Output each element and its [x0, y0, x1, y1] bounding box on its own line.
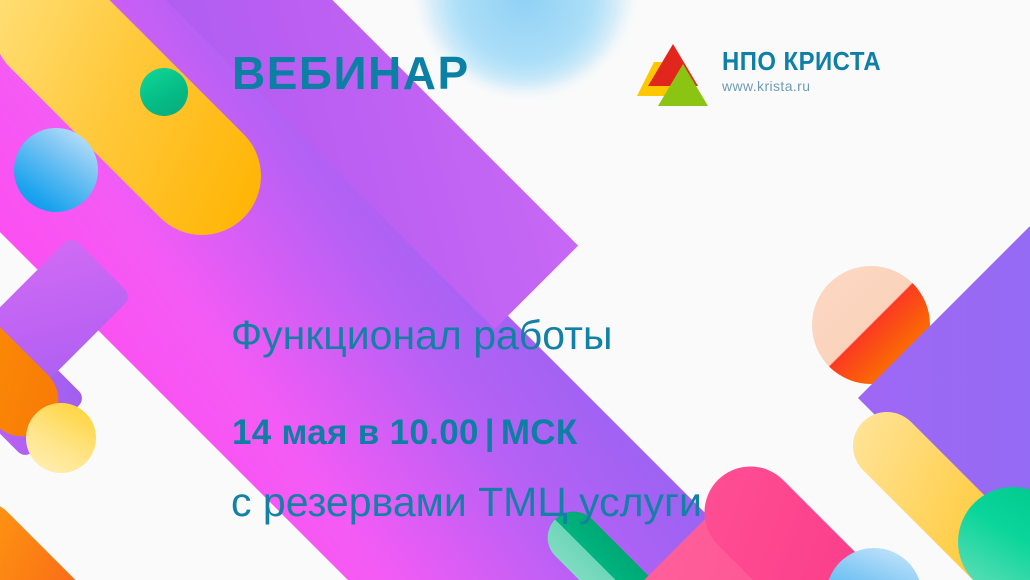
webinar-title-line-1: Функционал работы [231, 308, 702, 364]
krista-logo-text: НПО КРИСТА www.krista.ru [722, 48, 895, 94]
krista-logo-name: НПО КРИСТА [722, 48, 881, 75]
webinar-date: 14 мая в 10.00 [232, 413, 479, 452]
webinar-datetime: 14 мая в 10.00|МСК [232, 413, 578, 453]
banner-content: ВЕБИНАР Функционал работы с резервами ТМ… [0, 0, 1030, 580]
webinar-kicker-label: ВЕБИНАР [232, 50, 470, 96]
webinar-announcement-banner: ВЕБИНАР Функционал работы с резервами ТМ… [0, 0, 1030, 580]
krista-logo: НПО КРИСТА www.krista.ru [636, 42, 868, 114]
webinar-title-line-2: с резервами ТМЦ услуги [231, 475, 702, 531]
webinar-timezone: МСК [501, 413, 578, 452]
krista-triangles-icon [636, 42, 712, 110]
krista-logo-url: www.krista.ru [722, 78, 895, 94]
datetime-separator: | [479, 413, 501, 452]
webinar-title: Функционал работы с резервами ТМЦ услуги… [231, 196, 702, 580]
